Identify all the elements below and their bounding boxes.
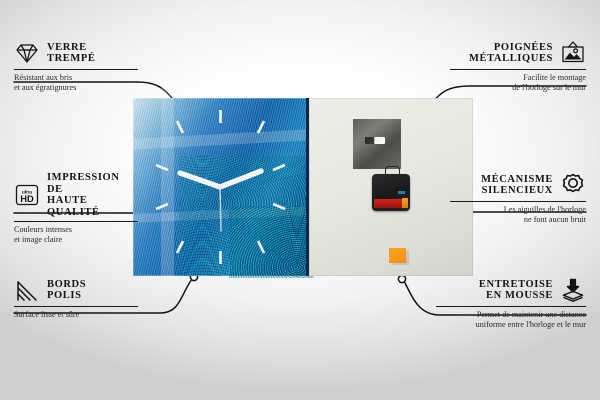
divider [450, 201, 586, 202]
callout-subtitle: Les aiguilles de l'horloge ne font aucun… [450, 205, 586, 224]
metal-hanger [353, 119, 401, 169]
callout-subtitle: Facilite le montage de l'horloge sur le … [450, 73, 586, 92]
foam-spacer [389, 248, 406, 263]
divider [14, 221, 138, 222]
callout-verre-trempe: VERRE TREMPÉ Résistant aux bris et aux é… [14, 40, 138, 92]
callout-subtitle: Surface lisse et sûre [14, 310, 138, 320]
polished-edges-icon [14, 277, 40, 303]
hanger-slot [365, 137, 385, 144]
divider [436, 306, 586, 307]
mechanism-dial [398, 191, 405, 194]
divider [14, 306, 138, 307]
foam-spacer-icon [560, 277, 586, 303]
callout-title: IMPRESSION DE HAUTE QUALITÉ [47, 172, 138, 218]
callout-subtitle: Résistant aux bris et aux égratignures [14, 73, 138, 92]
diamond-icon [14, 40, 40, 66]
divider [14, 69, 138, 70]
callout-title: MÉCANISME SILENCIEUX [481, 174, 553, 197]
callout-impression-haute-qualite: ultra HD IMPRESSION DE HAUTE QUALITÉ Cou… [14, 172, 138, 244]
callout-title: ENTRETOISE EN MOUSSE [479, 279, 553, 302]
callout-mecanisme-silencieux: MÉCANISME SILENCIEUX Les aiguilles de l'… [450, 172, 586, 224]
callout-title: VERRE TREMPÉ [47, 42, 96, 65]
gear-icon [560, 172, 586, 198]
battery [374, 199, 405, 208]
hd-label: HD [20, 193, 34, 204]
callout-subtitle: Permet de maintenir une distance uniform… [436, 310, 586, 329]
hanging-frame-icon [560, 40, 586, 66]
callout-entretoise-en-mousse: ENTRETOISE EN MOUSSE Permet de maintenir… [436, 277, 586, 329]
infographic-stage: VERRE TREMPÉ Résistant aux bris et aux é… [0, 0, 600, 400]
ultra-hd-icon: ultra HD [14, 182, 40, 208]
battery-terminal [402, 198, 408, 208]
callout-bords-polis: BORDS POLIS Surface lisse et sûre [14, 277, 138, 320]
callout-title: BORDS POLIS [47, 279, 86, 302]
callout-subtitle: Couleurs intenses et image claire [14, 225, 138, 244]
glass-gloss [133, 98, 308, 276]
divider [450, 69, 586, 70]
callout-poignees-metalliques: POIGNÉES MÉTALLIQUES Facilite le montage… [450, 40, 586, 92]
product-image [133, 98, 473, 276]
callout-title: POIGNÉES MÉTALLIQUES [469, 42, 553, 65]
clock-face-front [133, 98, 308, 276]
